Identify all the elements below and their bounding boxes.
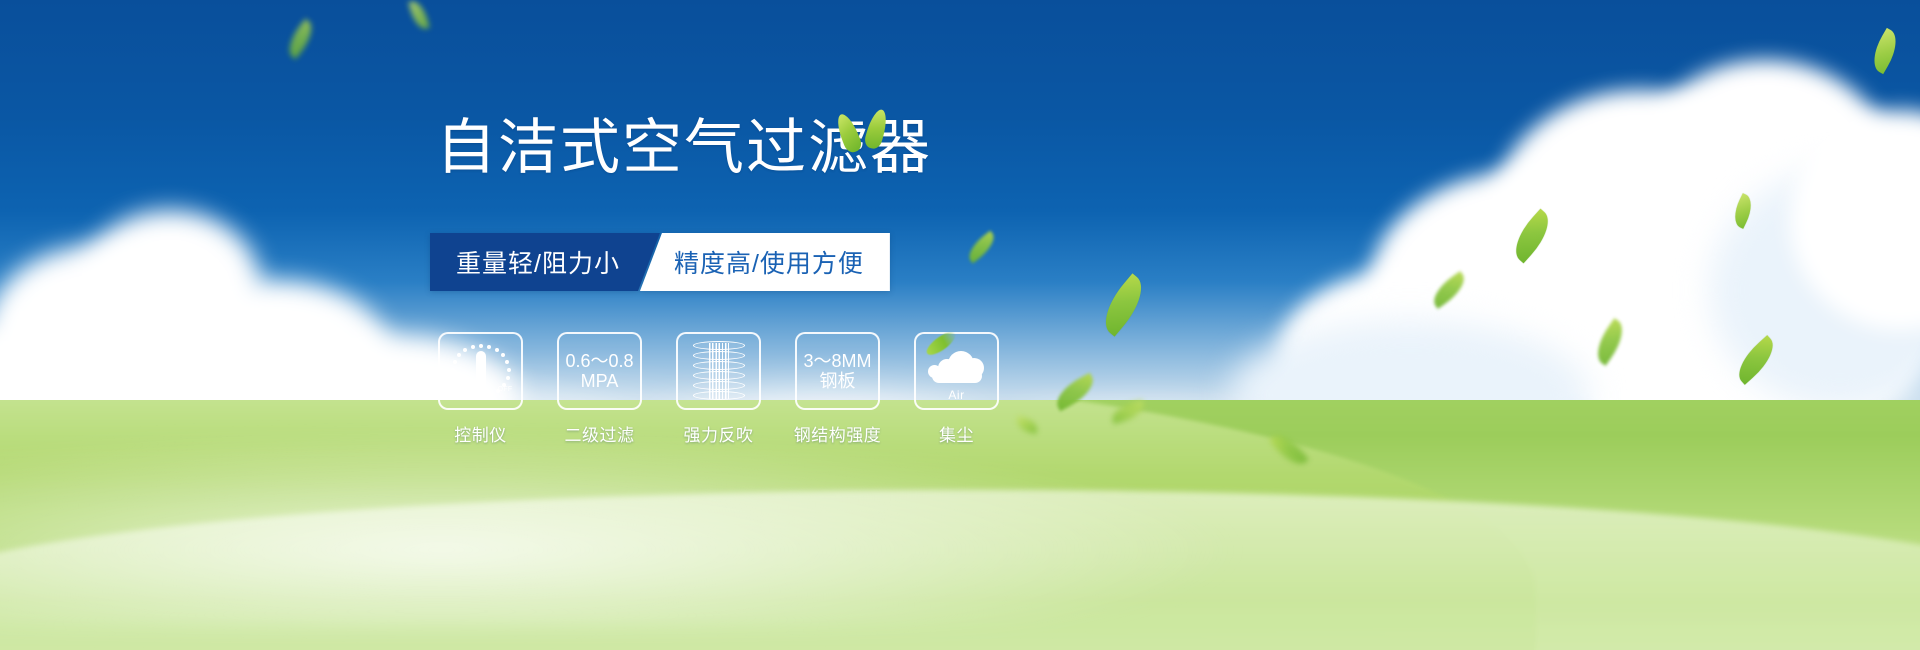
subtitle-tag-right: 精度高/使用方便 (640, 233, 890, 291)
feature-icon-box: 0.6～0.8 MPA (557, 332, 642, 410)
feature-caption: 钢结构强度 (794, 421, 882, 446)
pressure-value: 0.6～0.8 (565, 351, 633, 371)
feature-item-dust[interactable]: Air 集尘 (913, 332, 1000, 446)
feature-item-control[interactable]: NO OFF 控制仪 (437, 332, 524, 446)
steel-thickness: 3～8MM (803, 351, 871, 371)
feature-item-filtration[interactable]: 0.6～0.8 MPA 二级过滤 (556, 332, 643, 446)
feature-icon-box: NO OFF (438, 332, 523, 410)
feature-caption: 强力反吹 (684, 421, 754, 446)
feature-caption: 二级过滤 (565, 421, 635, 446)
product-hero-banner: 自洁式空气过滤器 重量轻/阻力小 精度高/使用方便 (0, 0, 1920, 650)
steel-plate-text-icon: 3～8MM 钢板 (803, 351, 871, 391)
subtitle-tag-bar: 重量轻/阻力小 精度高/使用方便 (430, 233, 890, 291)
grass-highlight (0, 430, 1248, 630)
feature-icon-box: 3～8MM 钢板 (795, 332, 880, 410)
feature-icon-box: Air (914, 332, 999, 410)
feature-caption: 集尘 (939, 421, 974, 446)
leaf-sprout-icon (838, 107, 898, 159)
gauge-dial-icon: NO OFF (450, 342, 512, 400)
gauge-label-no: NO (446, 369, 457, 376)
feature-icon-box (676, 332, 761, 410)
dust-cloud-icon: Air (926, 343, 988, 399)
steel-material: 钢板 (803, 371, 871, 391)
subtitle-tag-left: 重量轻/阻力小 (430, 233, 660, 291)
pressure-text-icon: 0.6～0.8 MPA (565, 351, 633, 391)
dust-cloud-label: Air (926, 388, 988, 402)
feature-item-backblow[interactable]: 强力反吹 (675, 332, 762, 446)
filter-cartridge-coil-icon (693, 341, 745, 401)
feature-caption: 控制仪 (454, 421, 507, 446)
pressure-unit: MPA (565, 371, 633, 391)
feature-item-steel[interactable]: 3～8MM 钢板 钢结构强度 (794, 332, 881, 446)
feature-icon-row: NO OFF 控制仪 0.6～0.8 MPA 二级过滤 (437, 332, 1000, 446)
gauge-label-off: OFF (498, 386, 513, 393)
